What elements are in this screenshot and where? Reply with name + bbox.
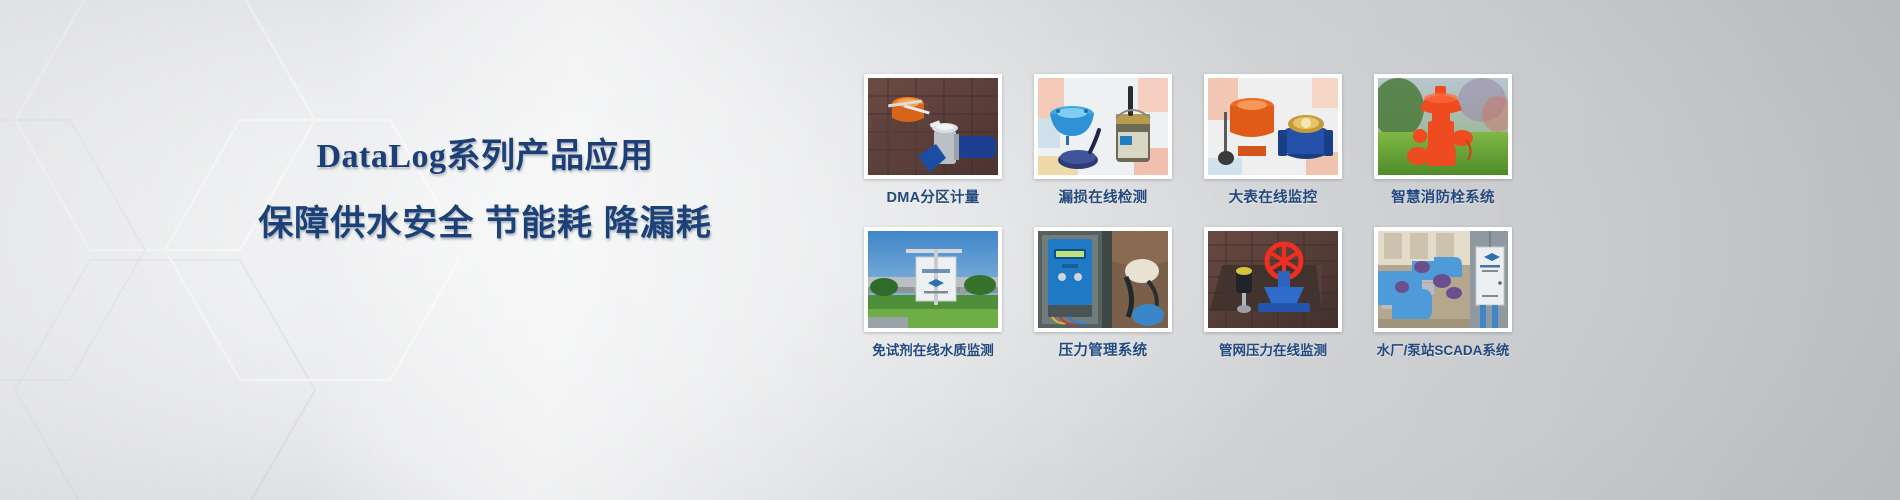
product-thumbnail[interactable] (1204, 227, 1342, 332)
product-grid: DMA分区计量 (864, 74, 1512, 360)
leak-detection-sensors-photo (1038, 78, 1168, 175)
product-card[interactable]: DMA分区计量 (864, 74, 1002, 207)
product-caption: 免试剂在线水质监测 (864, 339, 1002, 359)
product-card[interactable]: 免试剂在线水质监测 (864, 227, 1002, 360)
pressure-management-system-photo (1038, 231, 1168, 328)
product-caption: 大表在线监控 (1204, 186, 1342, 207)
large-meter-monitoring-photo (1208, 78, 1338, 175)
waterworks-pumping-scada-photo (1378, 231, 1508, 328)
product-caption: 智慧消防栓系统 (1374, 186, 1512, 207)
product-caption: DMA分区计量 (864, 186, 1002, 207)
product-card[interactable]: 漏损在线检测 (1034, 74, 1172, 207)
product-card[interactable]: 大表在线监控 (1204, 74, 1342, 207)
product-thumbnail[interactable] (1204, 74, 1342, 179)
product-card[interactable]: 管网压力在线监测 (1204, 227, 1342, 360)
product-caption: 压力管理系统 (1034, 339, 1172, 360)
smart-fire-hydrant-photo (1378, 78, 1508, 175)
product-thumbnail[interactable] (864, 227, 1002, 332)
product-thumbnail[interactable] (1374, 74, 1512, 179)
product-thumbnail[interactable] (864, 74, 1002, 179)
product-card[interactable]: 智慧消防栓系统 (1374, 74, 1512, 207)
product-thumbnail[interactable] (1034, 227, 1172, 332)
dma-metering-chamber-photo (868, 78, 998, 175)
headline-block: DataLog系列产品应用 保障供水安全 节能耗 降漏耗 (250, 138, 720, 244)
headline-secondary: 保障供水安全 节能耗 降漏耗 (250, 205, 720, 244)
reagentless-water-quality-station-photo (868, 231, 998, 328)
product-thumbnail[interactable] (1034, 74, 1172, 179)
product-card[interactable]: 压力管理系统 (1034, 227, 1172, 360)
product-caption: 漏损在线检测 (1034, 186, 1172, 207)
product-caption: 管网压力在线监测 (1204, 339, 1342, 359)
hexagon-watermark (0, 0, 460, 500)
product-caption: 水厂/泵站SCADA系统 (1374, 339, 1512, 359)
headline-primary: DataLog系列产品应用 (250, 138, 720, 175)
product-thumbnail[interactable] (1374, 227, 1512, 332)
pipeline-pressure-monitoring-photo (1208, 231, 1338, 328)
product-card[interactable]: 水厂/泵站SCADA系统 (1374, 227, 1512, 360)
product-banner: DataLog系列产品应用 保障供水安全 节能耗 降漏耗 (0, 0, 1900, 500)
